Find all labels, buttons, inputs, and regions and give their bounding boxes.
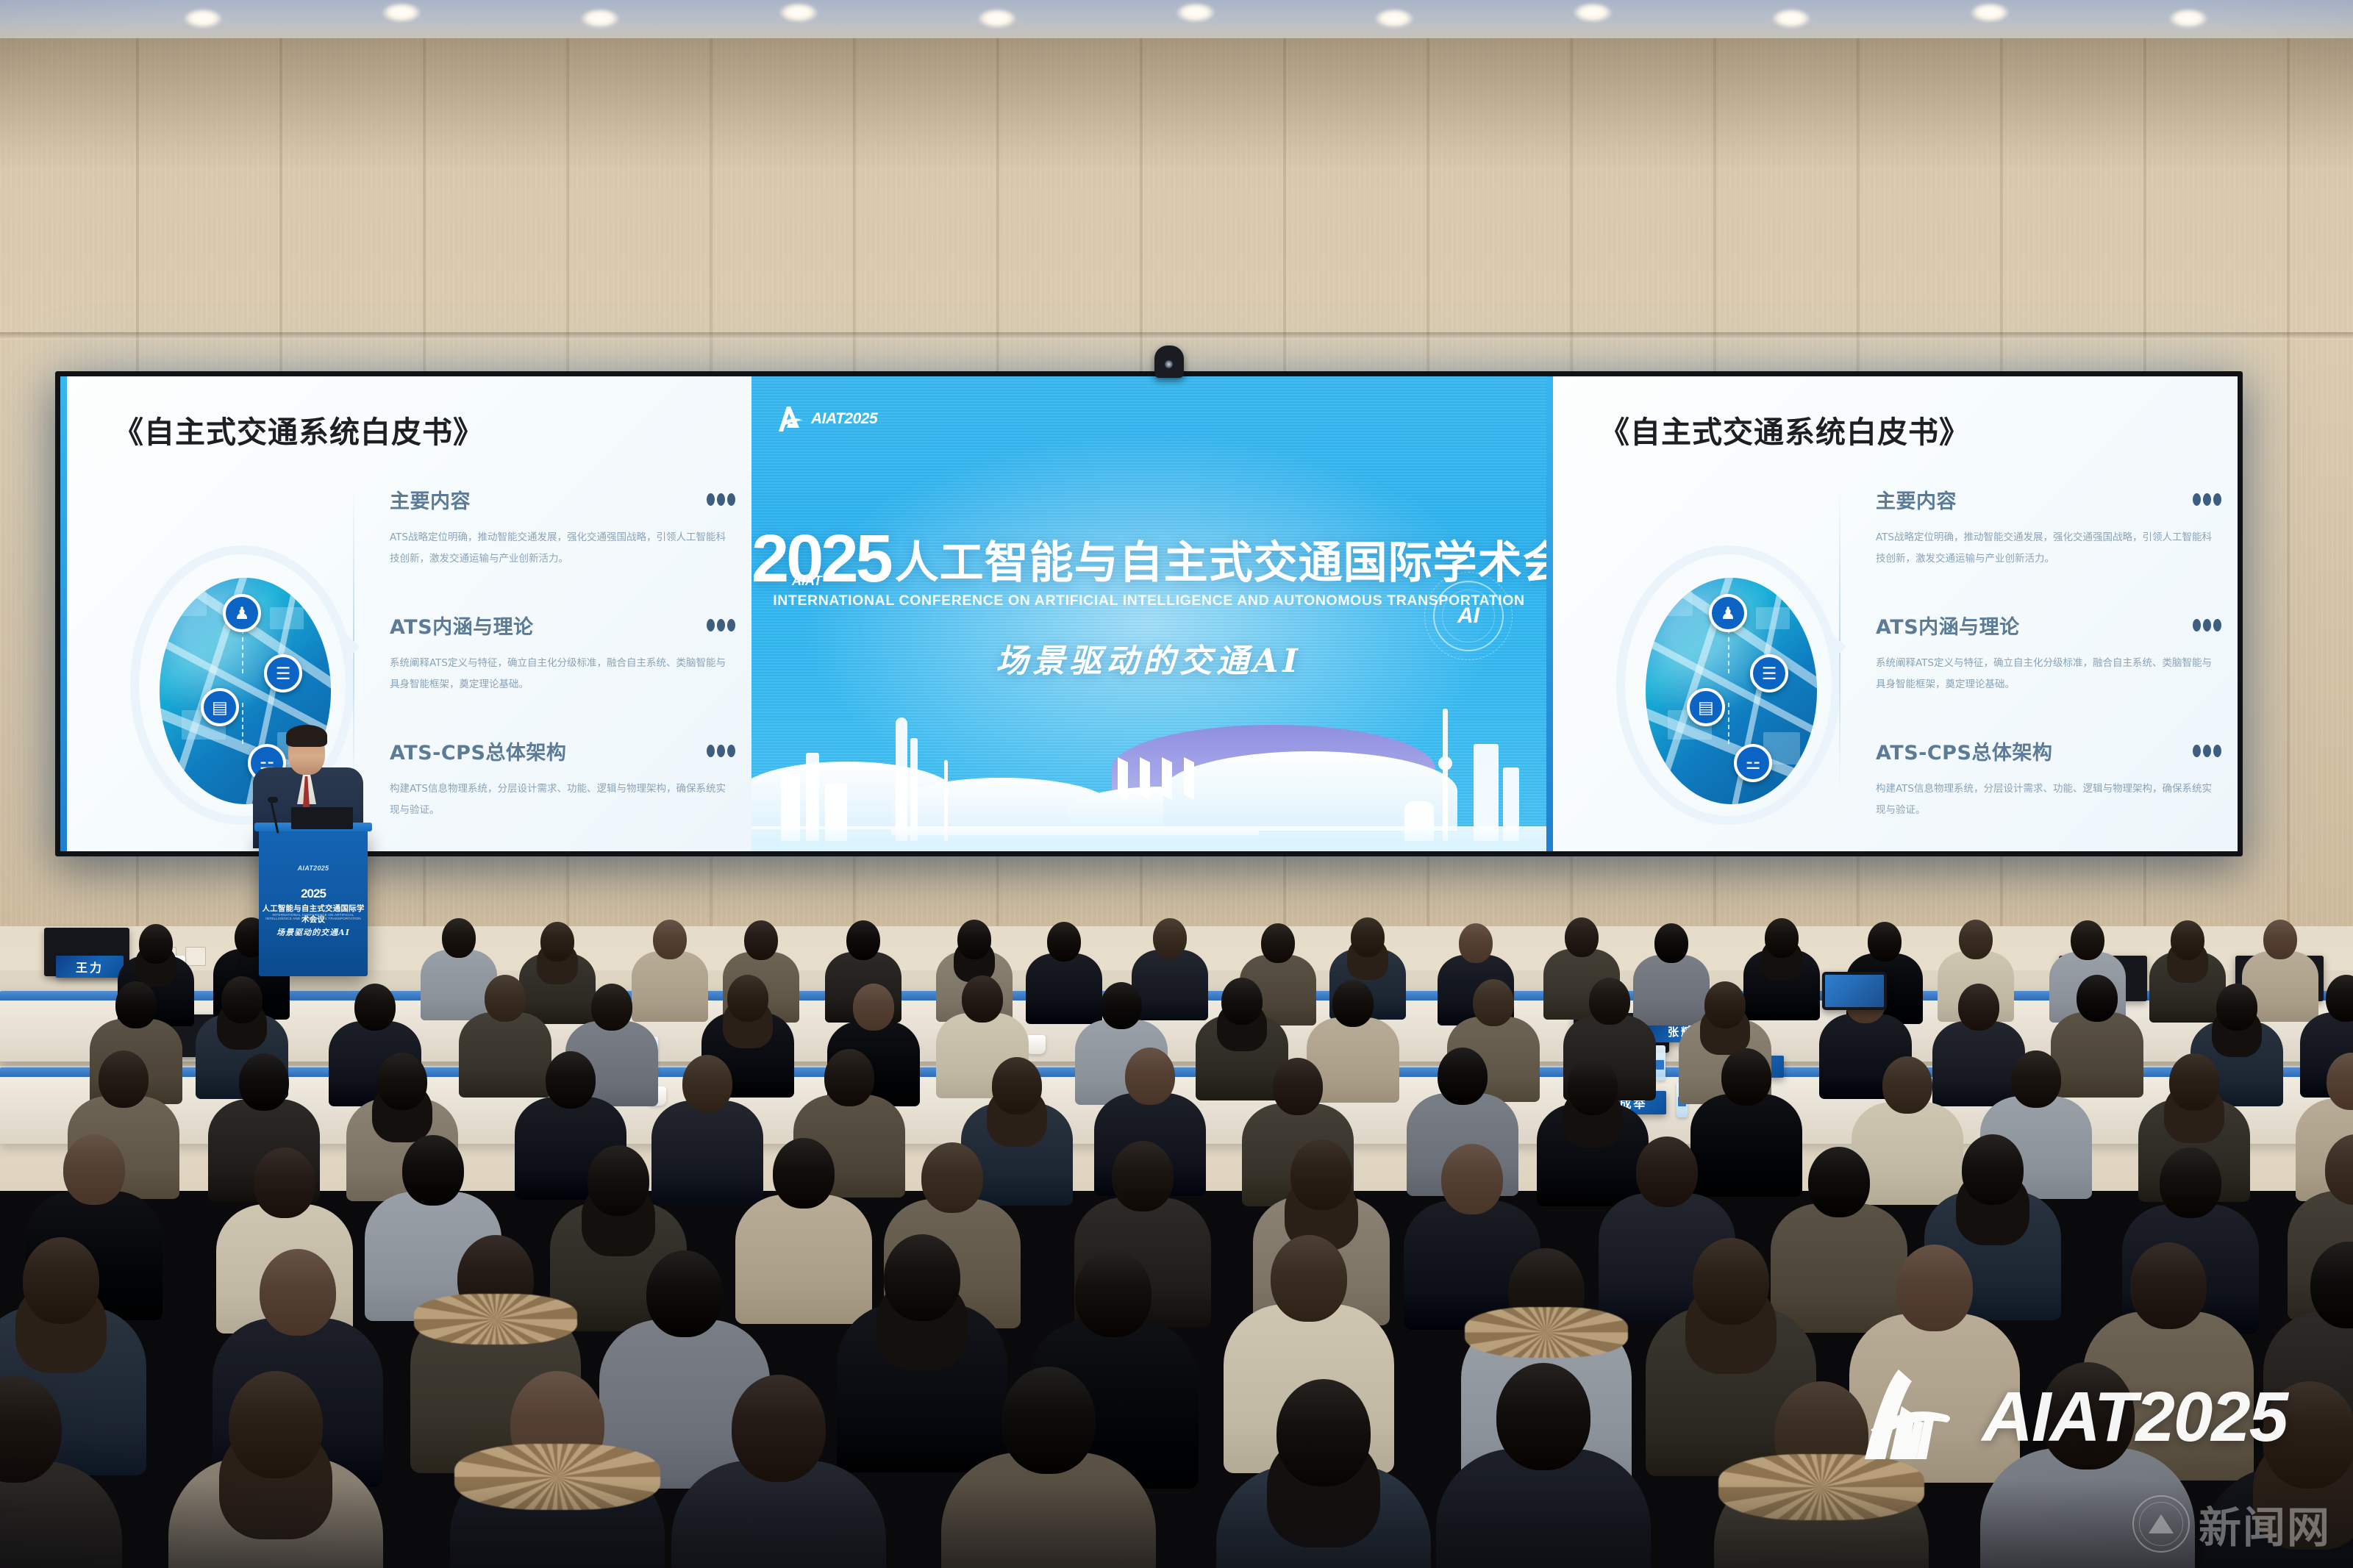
- chevron-marker-icon: [1162, 757, 1172, 800]
- audience-head: [1290, 1139, 1352, 1210]
- section-heading: ATS内涵与理论: [390, 611, 534, 640]
- audience-head: [2169, 1053, 2219, 1111]
- audience-head: [1459, 923, 1493, 963]
- microphone-head-icon: [268, 797, 278, 803]
- section-heading: ATS-CPS总体架构: [1876, 737, 2052, 765]
- slide-accent-edge: [1546, 376, 1553, 851]
- slide-panel-right: 《自主式交通系统白皮书》 ♟ ☰ ▤ ⚍: [1546, 376, 2238, 851]
- audience-head: [591, 984, 632, 1031]
- pin-connector: [242, 629, 243, 673]
- audience-head: [63, 1134, 125, 1205]
- audience-head: [1112, 1141, 1174, 1211]
- audience-head: [1962, 1134, 2024, 1205]
- audience-head: [23, 1237, 99, 1324]
- audience-head: [1868, 922, 1902, 962]
- section-text: ATS战略定位明确，推动智能交通发展，强化交通强国战略，引领人工智能科技创新，激…: [390, 527, 735, 570]
- audience-head: [824, 1049, 874, 1106]
- slide-arrow-icon: [1833, 635, 1846, 659]
- ceiling-light: [1971, 3, 2009, 22]
- slide-accent-edge: [60, 376, 67, 851]
- wall-top-shadow: [0, 38, 2353, 171]
- vehicle-pin-icon: ▤: [1687, 688, 1725, 726]
- audience-head: [1273, 1058, 1323, 1115]
- audience-head: [1441, 1144, 1503, 1214]
- audience-head: [2130, 1242, 2207, 1329]
- audience-head: [588, 1145, 649, 1216]
- audience-head: [139, 924, 173, 964]
- foreground-shadow: [0, 1480, 2353, 1568]
- audience-head: [1693, 1238, 1769, 1325]
- audience-head: [1125, 1048, 1175, 1105]
- audience-head: [682, 1055, 732, 1112]
- audience-head: [1808, 1147, 1870, 1217]
- conference-year: 2025AIAT: [751, 529, 890, 590]
- city-block: [270, 607, 304, 629]
- audience-head: [115, 981, 157, 1028]
- ceiling-light: [978, 9, 1016, 28]
- audience-head: [957, 920, 991, 959]
- audience-head: [254, 1148, 315, 1218]
- audience-head: [1277, 1379, 1371, 1486]
- audience-head: [2160, 1148, 2221, 1218]
- pin-connector: [1728, 703, 1729, 744]
- audience-head: [1958, 984, 1999, 1031]
- section-text: 构建ATS信息物理系统，分层设计需求、功能、逻辑与物理架构，确保系统实现与验证。: [1876, 778, 2221, 821]
- podium-year: 2025: [259, 887, 368, 901]
- podium-logo-text: AIAT2025: [259, 864, 368, 872]
- year-badge: AIAT: [792, 575, 822, 587]
- slide-sections: 主要内容 ATS战略定位明确，推动智能交通发展，强化交通强国战略，引领人工智能科…: [390, 485, 735, 851]
- section-dots-icon: [2193, 745, 2221, 757]
- seal-glyph: [2149, 1514, 2174, 1533]
- audience-head: [1001, 1367, 1096, 1474]
- audience-head: [2071, 920, 2104, 960]
- audience-head: [239, 1053, 289, 1111]
- city-block: [1756, 607, 1790, 629]
- section-heading: ATS-CPS总体架构: [390, 737, 566, 765]
- ceiling-light: [184, 9, 222, 28]
- section-dots-icon: [707, 619, 735, 631]
- slide-title: 《自主式交通系统白皮书》: [113, 407, 484, 451]
- pin-connector: [1728, 629, 1729, 673]
- tower-silhouette: [896, 717, 907, 841]
- audience-head: [653, 920, 687, 959]
- audience-head: [732, 1375, 826, 1482]
- vehicle-pin-icon: ▤: [201, 688, 239, 726]
- ceiling-lights: [0, 0, 2353, 44]
- audience-head: [2171, 920, 2204, 960]
- tv-tower-silhouette: [1443, 709, 1448, 841]
- audience-head: [99, 1050, 149, 1108]
- chevron-marker-icon: [1118, 757, 1128, 800]
- led-video-wall: 《自主式交通系统白皮书》 ♟ ☰ ▤ ⚍: [55, 371, 2243, 856]
- audience-head: [354, 984, 396, 1031]
- audience-head: [260, 1249, 336, 1336]
- audience-head: [1261, 923, 1295, 963]
- city-skyline-graphic: [751, 667, 1546, 851]
- slide-panel-left: 《自主式交通系统白皮书》 ♟ ☰ ▤ ⚍: [60, 376, 751, 851]
- audience-head: [1153, 918, 1187, 958]
- audience-head: [1765, 918, 1799, 958]
- person-pin-icon: ♟: [223, 594, 261, 632]
- audience-head: [1101, 982, 1142, 1029]
- slide-section: 主要内容 ATS战略定位明确，推动智能交通发展，强化交通强国战略，引领人工智能科…: [390, 485, 735, 570]
- audience-head: [2216, 984, 2257, 1031]
- conference-logo: AIAT2025: [775, 404, 877, 434]
- ceiling-camera-icon: [1154, 346, 1184, 378]
- person-pin-icon: ♟: [1709, 594, 1747, 632]
- audience-head: [402, 1135, 464, 1206]
- audience-head: [1636, 1136, 1698, 1207]
- traffic-light-pin-icon: ☰: [264, 654, 302, 692]
- section-text: 系统阐释ATS定义与特征，确立自主化分级标准，融合自主系统、类脑智能与具身智能框…: [1876, 653, 2221, 695]
- water-bottle: [1654, 1045, 1665, 1081]
- audience-head: [744, 920, 778, 960]
- audience-head: [1654, 923, 1688, 963]
- aiat-logo-mark-icon: [775, 404, 804, 434]
- city-block: [1654, 591, 1693, 616]
- audience-head: [727, 975, 768, 1022]
- ceiling-light: [581, 9, 619, 28]
- speaker-podium: AIAT2025 2025 人工智能与自主式交通国际学术会议 INTERNATI…: [259, 829, 368, 976]
- section-text: 构建ATS信息物理系统，分层设计需求、功能、逻辑与物理架构，确保系统实现与验证。: [390, 778, 735, 821]
- podium-theme: 场景驱动的交通AI: [259, 926, 368, 938]
- slide-sections: 主要内容 ATS战略定位明确，推动智能交通发展，强化交通强国战略，引领人工智能科…: [1876, 485, 2221, 851]
- fur-hood-collar: [414, 1294, 578, 1345]
- chevron-marker-icon: [1184, 757, 1194, 800]
- section-text: 系统阐释ATS定义与特征，确立自主化分级标准，融合自主系统、类脑智能与具身智能框…: [390, 653, 735, 695]
- slide-section: ATS-CPS总体架构 构建ATS信息物理系统，分层设计需求、功能、逻辑与物理架…: [390, 737, 735, 821]
- news-watermark-text: 新闻网: [2199, 1493, 2331, 1555]
- tower-silhouette: [910, 738, 918, 841]
- slide-section: ATS内涵与理论 系统阐释ATS定义与特征，确立自主化分级标准，融合自主系统、类…: [390, 611, 735, 695]
- pin-connector: [242, 703, 243, 744]
- ceiling-light: [779, 3, 818, 22]
- audience-head: [1075, 1250, 1151, 1337]
- audience-head: [2263, 920, 2297, 959]
- fur-hood-collar: [1465, 1307, 1629, 1358]
- event-watermark-text: AIAT2025: [1982, 1377, 2287, 1458]
- ceiling-light: [382, 3, 421, 22]
- audience-head: [773, 1138, 835, 1209]
- section-dots-icon: [707, 493, 735, 506]
- slide-section: ATS内涵与理论 系统阐释ATS定义与特征，确立自主化分级标准，融合自主系统、类…: [1876, 611, 2221, 695]
- nameplate: 王力: [56, 956, 124, 978]
- audience-head: [846, 920, 880, 960]
- slide-section: ATS-CPS总体架构 构建ATS信息物理系统，分层设计需求、功能、逻辑与物理架…: [1876, 737, 2221, 821]
- audience-head: [485, 975, 526, 1022]
- skyline-ground: [751, 826, 1546, 851]
- audience-head: [1271, 1235, 1347, 1322]
- aiat-watermark-logo-icon: [1853, 1362, 1963, 1472]
- audience-head: [1882, 1056, 1932, 1114]
- conference-photo-scene: 《自主式交通系统白皮书》 ♟ ☰ ▤ ⚍: [0, 0, 2353, 1568]
- podium-title-en: INTERNATIONAL CONFERENCE ON ARTIFICIAL I…: [259, 913, 368, 920]
- audience-head: [540, 922, 574, 962]
- section-heading: ATS内涵与理论: [1876, 611, 2020, 640]
- section-text: ATS战略定位明确，推动智能交通发展，强化交通强国战略，引领人工智能科技创新，激…: [1876, 527, 2221, 570]
- audience-head: [1332, 980, 1374, 1027]
- news-watermark: 新闻网: [2132, 1493, 2331, 1555]
- tv-tower-ball: [1438, 756, 1452, 770]
- tea-cup: [1026, 1035, 1046, 1054]
- audience-head: [1959, 920, 1993, 959]
- podium-monitor: [291, 807, 353, 829]
- audience-head: [229, 1371, 323, 1478]
- university-seal-icon: [2132, 1495, 2190, 1553]
- slide-panel-center: AIAT2025 2025AIAT人工智能与自主式交通国际学术会议 INTERN…: [751, 376, 1546, 851]
- audience-head: [884, 1234, 960, 1321]
- ceiling-light: [2169, 9, 2207, 28]
- aerial-traffic-photo: ♟ ☰ ▤ ⚍: [1646, 578, 1817, 804]
- audience-head: [1721, 1048, 1771, 1106]
- audience-head: [1351, 917, 1385, 957]
- audience-head: [1221, 978, 1263, 1025]
- audience-head: [921, 1142, 983, 1213]
- slide-section: 主要内容 ATS战略定位明确，推动智能交通发展，强化交通强国战略，引领人工智能科…: [1876, 485, 2221, 570]
- city-block: [168, 591, 207, 616]
- audience-head: [646, 1250, 723, 1337]
- ai-badge-icon: AI: [1433, 581, 1504, 651]
- audience-head: [962, 975, 1003, 1023]
- audience-head: [992, 1057, 1042, 1114]
- chevron-marker-icon: [1140, 757, 1150, 800]
- event-watermark: AIAT2025: [1853, 1362, 2287, 1472]
- nameplate-text: 王力: [76, 958, 104, 975]
- audience-head: [1589, 978, 1630, 1025]
- section-dots-icon: [2193, 493, 2221, 506]
- audience-head: [1496, 1363, 1590, 1470]
- slide-title: 《自主式交通系统白皮书》: [1599, 407, 1970, 451]
- ceiling-light: [1176, 3, 1215, 22]
- slide-arrow-icon: [347, 635, 360, 659]
- audience-head: [1473, 979, 1514, 1026]
- audience-head: [2011, 1050, 2061, 1108]
- audience-head: [1438, 1048, 1488, 1105]
- ceiling-light: [1574, 3, 1612, 22]
- ceiling-light: [1772, 9, 1810, 28]
- audience-head: [442, 918, 476, 958]
- audience-head: [853, 984, 894, 1031]
- speaker-hair: [286, 725, 327, 747]
- audience-head: [1565, 917, 1599, 957]
- section-heading: 主要内容: [390, 485, 471, 514]
- ceiling-light: [1375, 9, 1413, 28]
- audience-head: [1047, 922, 1081, 962]
- wall-trim-band: [0, 332, 2353, 340]
- audience-head: [2077, 975, 2118, 1022]
- conference-logo-text: AIAT2025: [811, 410, 877, 428]
- audience-head: [377, 1053, 427, 1110]
- audience-head: [1704, 981, 1746, 1028]
- audience-head: [1568, 1058, 1618, 1115]
- audience-head: [221, 976, 263, 1023]
- section-dots-icon: [707, 745, 735, 757]
- section-heading: 主要内容: [1876, 485, 1957, 514]
- traffic-light-pin-icon: ☰: [1750, 654, 1788, 692]
- section-dots-icon: [2193, 619, 2221, 631]
- attendee-phone-screen: [1822, 972, 1887, 1010]
- audience-head: [1896, 1245, 1973, 1331]
- slide-illustration-ring: ♟ ☰ ▤ ⚍: [1616, 545, 1840, 825]
- signpost-pin-icon: ⚍: [1734, 744, 1772, 782]
- audience-head: [546, 1051, 596, 1109]
